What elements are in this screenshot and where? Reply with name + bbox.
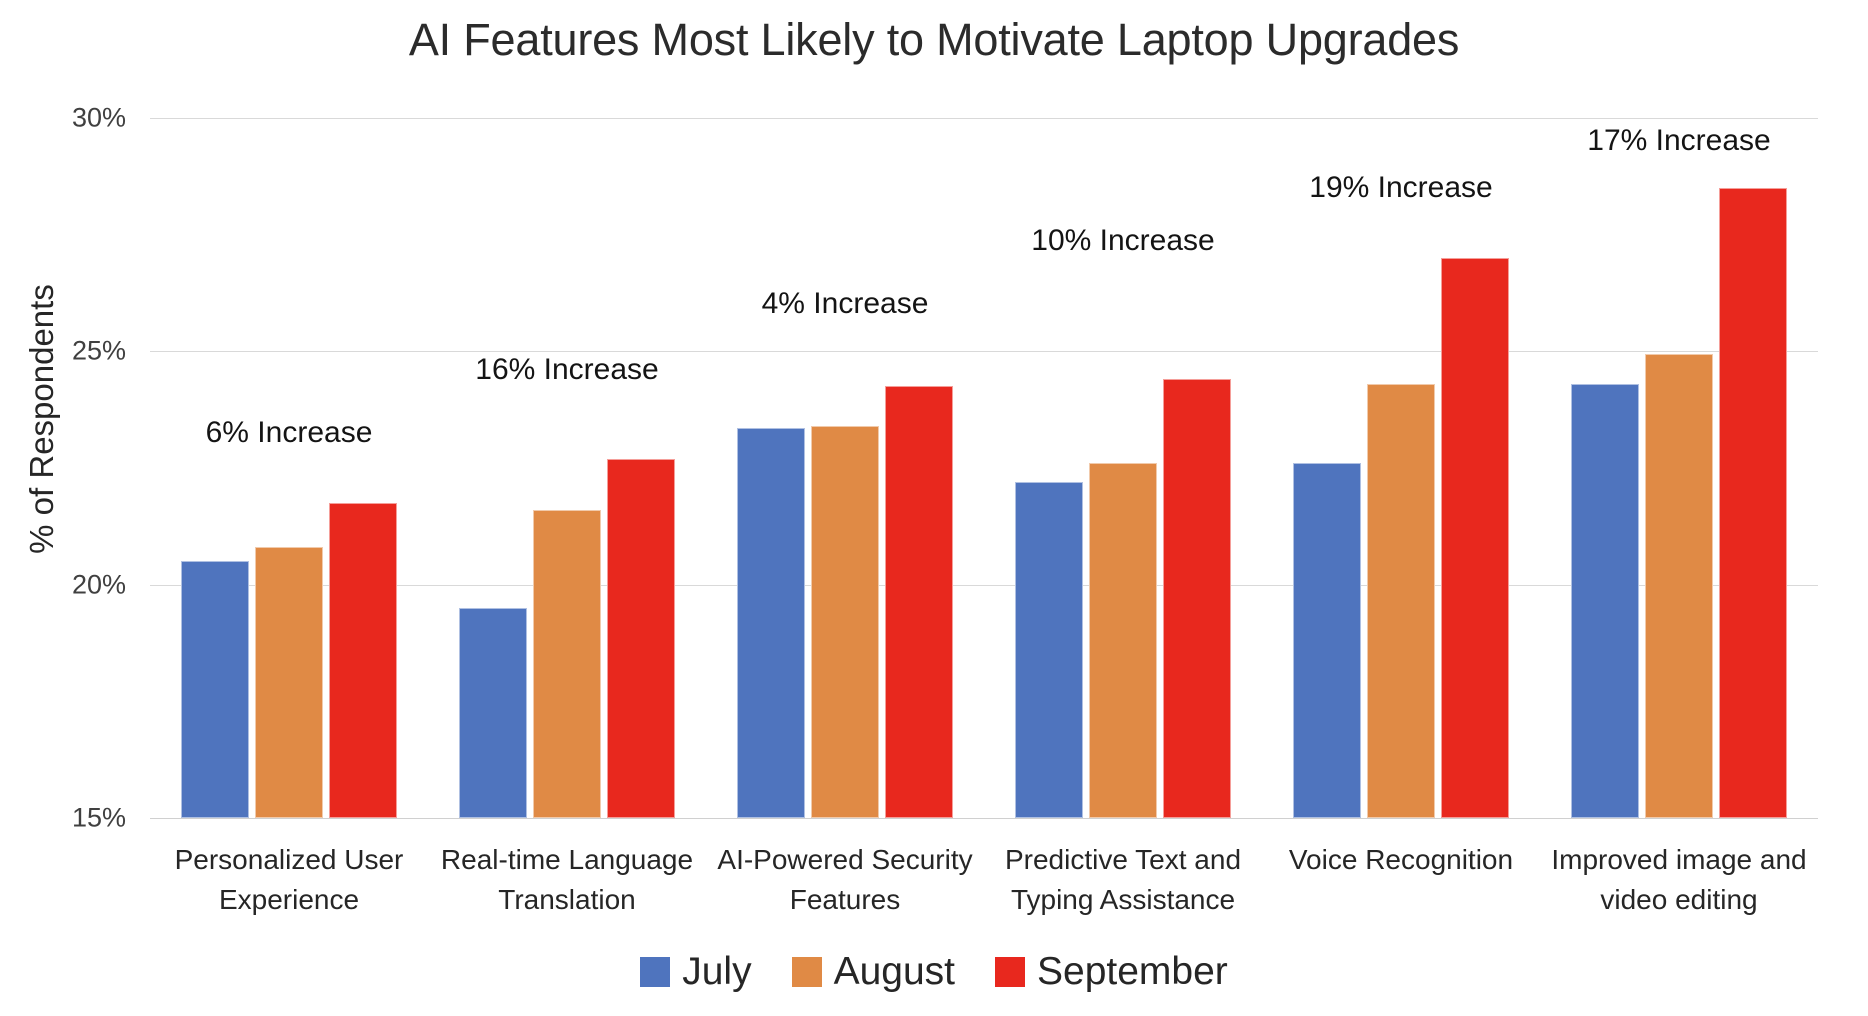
bar-july[interactable] — [1571, 384, 1639, 818]
bar-august[interactable] — [1645, 354, 1713, 818]
annotation-label: 19% Increase — [1309, 171, 1492, 205]
y-axis-tick-label: 25% — [6, 336, 126, 367]
annotation-label: 6% Increase — [206, 416, 373, 450]
bar-july[interactable] — [1293, 463, 1361, 818]
x-axis-category-label: Improved image andvideo editing — [1530, 840, 1828, 920]
bar-july[interactable] — [1015, 482, 1083, 818]
x-axis-category-label: Voice Recognition — [1252, 840, 1550, 880]
bar-chart: AI Features Most Likely to Motivate Lapt… — [0, 0, 1868, 1016]
bar-september[interactable] — [885, 386, 953, 818]
bar-august[interactable] — [1089, 463, 1157, 818]
y-axis-tick-label: 30% — [6, 103, 126, 134]
category-label-line: video editing — [1530, 880, 1828, 920]
x-axis-category-label: AI-Powered SecurityFeatures — [696, 840, 994, 920]
gridline — [150, 818, 1818, 819]
bar-september[interactable] — [1441, 258, 1509, 818]
legend-item-august[interactable]: August — [792, 952, 955, 991]
bar-september[interactable] — [1719, 188, 1787, 818]
category-label-line: Real-time Language — [418, 840, 716, 880]
category-label-line: AI-Powered Security — [696, 840, 994, 880]
bar-group — [1540, 118, 1818, 818]
annotation-label: 10% Increase — [1031, 224, 1214, 258]
annotation-label: 4% Increase — [762, 287, 929, 321]
legend-item-september[interactable]: September — [995, 952, 1228, 991]
legend-swatch-icon — [995, 957, 1025, 987]
legend-item-july[interactable]: July — [640, 952, 751, 991]
category-label-line: Voice Recognition — [1252, 840, 1550, 880]
legend-swatch-icon — [640, 957, 670, 987]
category-label-line: Typing Assistance — [974, 880, 1272, 920]
bar-august[interactable] — [255, 547, 323, 818]
category-label-line: Personalized User — [140, 840, 438, 880]
legend-label: September — [1037, 952, 1228, 991]
bar-group — [1262, 118, 1540, 818]
category-label-line: Experience — [140, 880, 438, 920]
bar-group — [706, 118, 984, 818]
category-label-line: Translation — [418, 880, 716, 920]
bar-group — [428, 118, 706, 818]
legend-label: July — [682, 952, 751, 991]
bar-july[interactable] — [737, 428, 805, 818]
y-axis-tick-label: 20% — [6, 569, 126, 600]
chart-legend: JulyAugustSeptember — [0, 952, 1868, 991]
y-axis-title: % of Respondents — [23, 139, 61, 699]
bar-august[interactable] — [533, 510, 601, 818]
category-label-line: Features — [696, 880, 994, 920]
category-label-line: Predictive Text and — [974, 840, 1272, 880]
x-axis-category-label: Real-time LanguageTranslation — [418, 840, 716, 920]
y-axis-tick-label: 15% — [6, 803, 126, 834]
bar-group — [150, 118, 428, 818]
bar-september[interactable] — [329, 503, 397, 818]
x-axis-category-label: Predictive Text andTyping Assistance — [974, 840, 1272, 920]
bar-group — [984, 118, 1262, 818]
bar-august[interactable] — [811, 426, 879, 818]
bar-september[interactable] — [607, 459, 675, 818]
chart-title: AI Features Most Likely to Motivate Lapt… — [0, 14, 1868, 66]
bar-july[interactable] — [459, 608, 527, 818]
bar-july[interactable] — [181, 561, 249, 818]
category-label-line: Improved image and — [1530, 840, 1828, 880]
plot-area: 30%25%20%15% 6% Increase16% Increase4% I… — [150, 118, 1818, 818]
legend-label: August — [834, 952, 955, 991]
x-axis-category-label: Personalized UserExperience — [140, 840, 438, 920]
bar-september[interactable] — [1163, 379, 1231, 818]
annotation-label: 17% Increase — [1587, 124, 1770, 158]
annotation-label: 16% Increase — [475, 353, 658, 387]
bar-august[interactable] — [1367, 384, 1435, 818]
legend-swatch-icon — [792, 957, 822, 987]
